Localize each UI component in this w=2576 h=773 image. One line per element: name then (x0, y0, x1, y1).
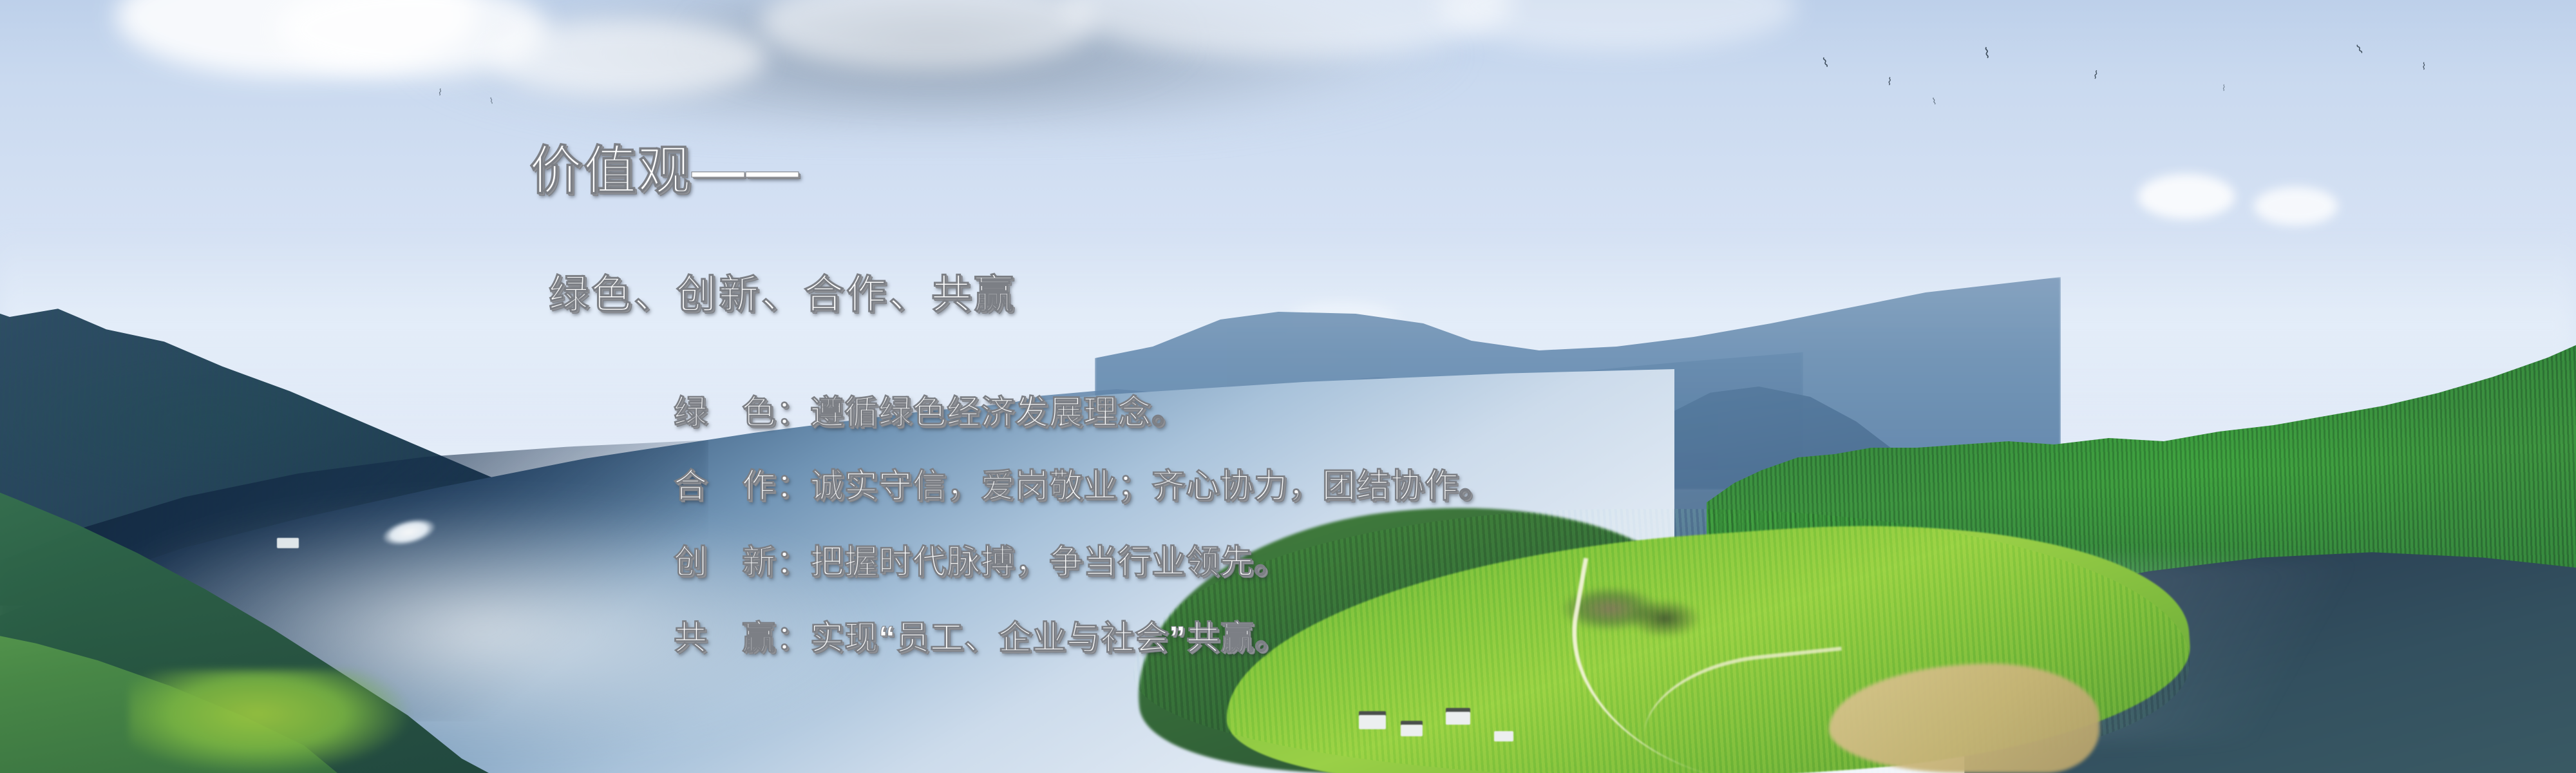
page-title: 价值观—— (529, 128, 800, 204)
text-overlay: 价值观—— 绿色、创新、合作、共赢 绿 色：遵循绿色经济发展理念。 合 作：诚实… (0, 0, 2576, 773)
value-separator: ： (776, 620, 810, 657)
value-text: 遵循绿色经济发展理念。 (810, 394, 1186, 432)
value-label: 合 作 (674, 459, 776, 507)
value-item-green: 绿 色：遵循绿色经济发展理念。 (674, 385, 1186, 434)
value-separator: ： (776, 394, 810, 432)
values-subtitle: 绿色、创新、合作、共赢 (549, 262, 1016, 320)
value-separator: ： (776, 544, 810, 581)
value-label: 共 赢 (674, 611, 776, 659)
value-text: 实现“员工、企业与社会”共赢。 (810, 620, 1289, 657)
value-label: 绿 色 (674, 385, 776, 434)
value-text: 诚实守信，爱岗敬业；齐心协力，团结协作。 (810, 468, 1493, 505)
value-item-winwin: 共 赢：实现“员工、企业与社会”共赢。 (674, 611, 1289, 659)
value-separator: ： (776, 468, 810, 505)
value-item-cooperation: 合 作：诚实守信，爱岗敬业；齐心协力，团结协作。 (674, 459, 1493, 507)
value-banner: ⌇ ⌇ ⌇ ⌇ ⌇ ⌇ ⌇ ⌇ ⌇ ⌇ 价值观—— 绿色、创新、合作、共赢 绿 … (0, 0, 2576, 773)
value-item-innovation: 创 新：把握时代脉搏，争当行业领先。 (674, 535, 1288, 583)
value-label: 创 新 (674, 535, 776, 583)
value-text: 把握时代脉搏，争当行业领先。 (810, 544, 1288, 581)
